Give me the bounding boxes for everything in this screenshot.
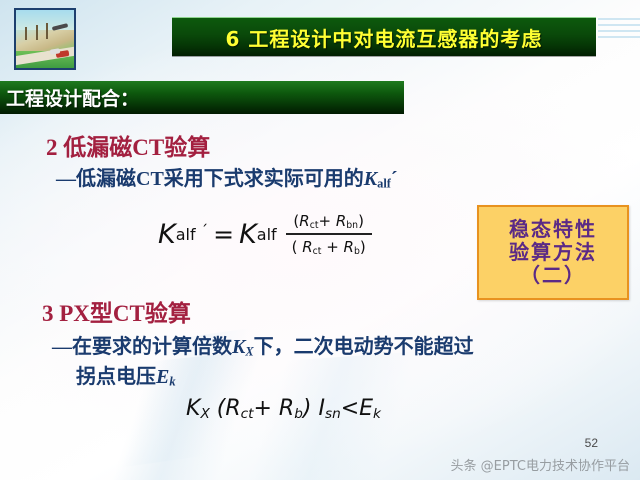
callout-line-3: （二）	[520, 264, 586, 287]
slide-canvas: 6 工程设计中对电流互感器的考虑 工程设计配合： 2 低漏磁CT验算 —低漏磁C…	[0, 0, 640, 480]
callout-box: 稳态特性 验算方法 （二）	[477, 205, 629, 300]
bullet-item-3-symbol-ek: E	[156, 366, 169, 388]
bullet-item-3-line-b: 拐点电压Ek	[76, 360, 176, 390]
formula-px: KX (Rct+ Rb) Isn<Ek	[186, 396, 381, 422]
bullet-item-3-line-b-pre: 拐点电压	[76, 366, 156, 388]
slide-title-text: 6 工程设计中对电流互感器的考虑	[226, 23, 543, 52]
page-number: 52	[585, 436, 598, 450]
bullet-item-3-symbol-ek-sub: k	[169, 375, 175, 389]
bullet-item-2-prime: ´	[391, 168, 398, 190]
formula-px-ek: Ek	[359, 396, 381, 421]
formula-kalf-fraction: (Rct+ Rbn) ( Rct + Rb)	[286, 212, 372, 257]
formula-kalf-rhs: K	[239, 219, 257, 250]
callout-line-2: 验算方法	[509, 241, 597, 264]
section-header-text: 工程设计配合：	[6, 84, 139, 111]
formula-kalf-denominator: ( Rct + Rb)	[288, 235, 370, 257]
formula-kalf-lhs: K	[158, 219, 176, 250]
formula-px-paren: (Rct+ Rb)	[217, 396, 312, 421]
formula-kalf-equals: =	[213, 220, 234, 249]
callout-line-1: 稳态特性	[509, 218, 597, 241]
formula-kalf-numerator: (Rct+ Rbn)	[289, 212, 368, 233]
heading-item-2: 2 低漏磁CT验算	[46, 128, 210, 162]
formula-px-kx: KX	[186, 396, 210, 421]
slide-title-bar: 6 工程设计中对电流互感器的考虑	[172, 17, 596, 56]
formula-kalf-lhs-sub: alf	[176, 225, 196, 244]
title-decoration-lines	[598, 18, 640, 54]
bullet-item-2-subscript: alf	[377, 177, 391, 191]
bullet-item-3-pre: —在要求的计算倍数	[52, 336, 232, 358]
thumbnail-tower-3	[46, 23, 48, 39]
formula-px-isn: Isn	[318, 396, 340, 421]
bullet-item-2-text: —低漏磁CT采用下式求实际可用的	[56, 168, 364, 190]
slide-thumbnail-image	[14, 8, 76, 70]
formula-kalf-rhs-sub: alf	[257, 225, 277, 244]
bullet-item-3-line-a: —在要求的计算倍数KX下，二次电动势不能超过	[52, 330, 474, 360]
thumbnail-tower-2	[36, 25, 38, 40]
formula-kalf: Kalf ´ = Kalf (Rct+ Rbn) ( Rct + Rb)	[158, 212, 372, 257]
watermark-text: 头条 @EPTC电力技术协作平台	[451, 455, 630, 474]
formula-kalf-prime: ´	[201, 222, 209, 240]
bullet-item-3-post: 下，二次电动势不能超过	[254, 336, 474, 358]
section-header-bar: 工程设计配合：	[0, 81, 404, 114]
bullet-item-2-line: —低漏磁CT采用下式求实际可用的Kalf´	[56, 162, 398, 192]
bullet-item-3-symbol-kx-sub: X	[245, 345, 253, 359]
thumbnail-tower-1	[25, 27, 27, 40]
formula-px-less-than: <	[341, 396, 359, 421]
bullet-item-2-symbol: K	[364, 168, 377, 190]
bullet-item-3-symbol-kx: K	[232, 336, 245, 358]
heading-item-3: 3 PX型CT验算	[42, 294, 191, 328]
